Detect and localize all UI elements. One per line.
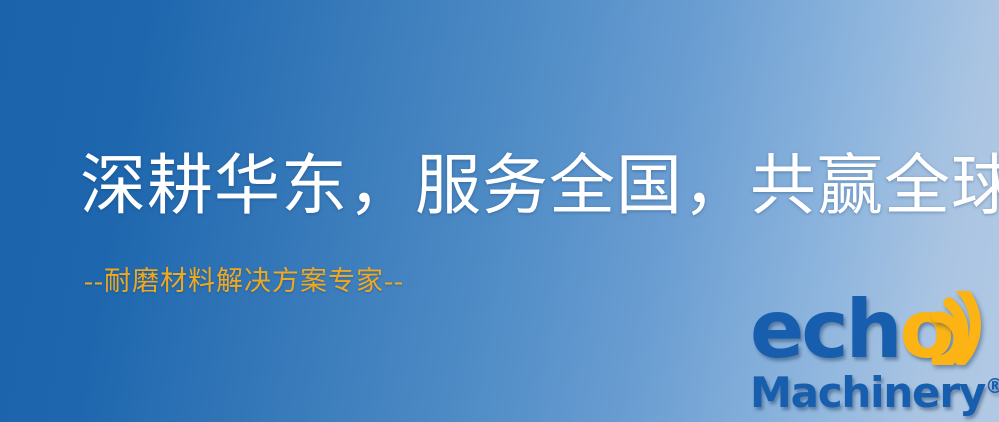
wifi-signal-arcs-icon	[927, 291, 999, 365]
logo-wordmark: echo	[750, 290, 952, 370]
hero-banner: 深耕华东，服务全国，共赢全球 --耐磨材料解决方案专家-- echo Machi…	[0, 0, 999, 422]
registered-trademark-icon: ®	[985, 374, 999, 398]
brand-logo[interactable]: echo Machinery®	[742, 292, 999, 422]
logo-tagline: Machinery®	[750, 364, 999, 415]
logo-wordmark-ech: ech	[750, 283, 900, 376]
page-title: 深耕华东，服务全国，共赢全球	[80, 152, 999, 222]
page-subtitle: --耐磨材料解决方案专家--	[84, 265, 404, 297]
logo-tagline-text: Machinery	[750, 368, 985, 417]
